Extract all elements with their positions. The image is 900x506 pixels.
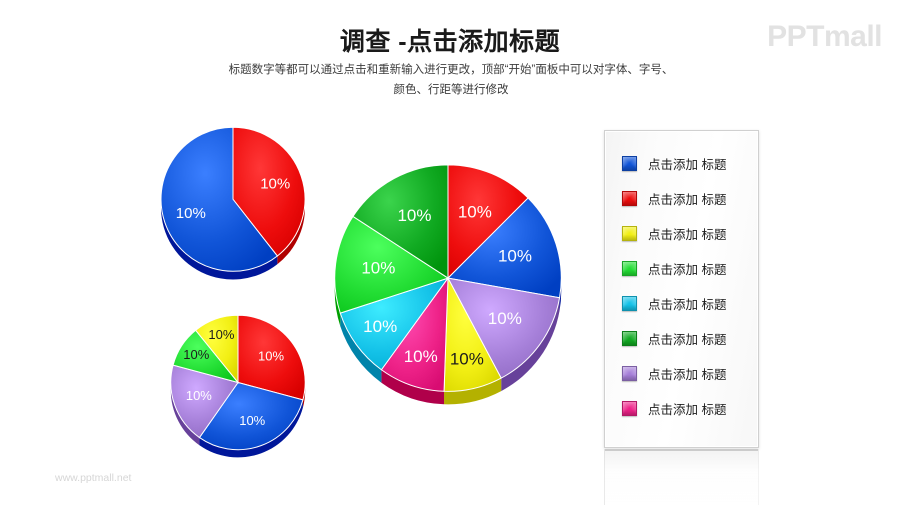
subtitle-line-2: 颜色、行距等进行修改 (178, 80, 724, 100)
pie-slice-label: 10% (258, 349, 284, 364)
pie-slice-label: 10% (208, 327, 234, 342)
legend-item[interactable]: 点击添加 标题 (605, 181, 758, 216)
legend-item[interactable]: 点击添加 标题 (605, 391, 758, 426)
legend-item-label: 点击添加 标题 (648, 224, 726, 243)
pie-slice-label: 10% (488, 309, 522, 328)
legend-item-label: 点击添加 标题 (648, 259, 726, 278)
legend-reflection (604, 449, 759, 505)
subtitle-line-1: 标题数字等都可以通过点击和重新输入进行更改，顶部“开始”面板中可以对字体、字号、 (178, 60, 724, 80)
legend-swatch-red-icon (622, 191, 637, 206)
legend-item-label: 点击添加 标题 (648, 364, 726, 383)
legend-panel: 点击添加 标题点击添加 标题点击添加 标题点击添加 标题点击添加 标题点击添加 … (604, 130, 759, 448)
legend-item[interactable]: 点击添加 标题 (605, 286, 758, 321)
legend-item[interactable]: 点击添加 标题 (605, 356, 758, 391)
pie-slice-label: 10% (498, 246, 532, 265)
pie-slice-label: 10% (450, 349, 484, 368)
legend-list: 点击添加 标题点击添加 标题点击添加 标题点击添加 标题点击添加 标题点击添加 … (605, 146, 758, 426)
legend-swatch-yellow-icon (622, 226, 637, 241)
legend-item-label: 点击添加 标题 (648, 189, 726, 208)
pie-slice-label: 10% (397, 206, 431, 225)
slide-canvas: 调查 -点击添加标题 标题数字等都可以通过点击和重新输入进行更改，顶部“开始”面… (0, 0, 900, 506)
pie-slice-label: 10% (458, 203, 492, 222)
legend-item[interactable]: 点击添加 标题 (605, 251, 758, 286)
pie-chart-large-center[interactable]: 10%10%10%10%10%10%10%10% (330, 166, 566, 402)
footer-watermark-url: www.pptmall.net (55, 472, 131, 484)
legend-item-label: 点击添加 标题 (648, 294, 726, 313)
page-title: 调查 -点击添加标题 (0, 22, 900, 58)
legend-item-label: 点击添加 标题 (648, 154, 726, 173)
pie-slice-label: 10% (239, 413, 265, 428)
pie-svg: 10%10%10%10%10%10%10%10% (330, 166, 566, 419)
legend-swatch-green-icon (622, 261, 637, 276)
pie-slice-label: 10% (404, 347, 438, 366)
pie-slice-label: 10% (361, 258, 395, 277)
legend-swatch-blue-icon (622, 156, 637, 171)
pie-slice-label: 10% (176, 205, 206, 222)
legend-swatch-pink-icon (622, 401, 637, 416)
legend-item-label: 点击添加 标题 (648, 399, 726, 418)
legend-item[interactable]: 点击添加 标题 (605, 321, 758, 356)
slide-subtitle: 标题数字等都可以通过点击和重新输入进行更改，顶部“开始”面板中可以对字体、字号、… (178, 60, 724, 100)
legend-swatch-purple-icon (622, 366, 637, 381)
pie-svg: 10%10% (158, 128, 308, 290)
legend-item[interactable]: 点击添加 标题 (605, 146, 758, 181)
pie-chart-small-bottom[interactable]: 10%10%10%10%10% (168, 316, 308, 456)
pie-slice-label: 10% (183, 347, 209, 362)
legend-swatch-dark-green-icon (622, 331, 637, 346)
pptmall-logo: PPTmall (767, 20, 882, 54)
pie-slice-label: 10% (363, 317, 397, 336)
legend-swatch-cyan-icon (622, 296, 637, 311)
legend-item[interactable]: 点击添加 标题 (605, 216, 758, 251)
pie-chart-small-top[interactable]: 10%10% (158, 128, 308, 278)
pie-slice-label: 10% (260, 176, 290, 193)
pie-svg: 10%10%10%10%10% (168, 316, 308, 468)
pie-slice-label: 10% (186, 388, 212, 403)
legend-item-label: 点击添加 标题 (648, 329, 726, 348)
